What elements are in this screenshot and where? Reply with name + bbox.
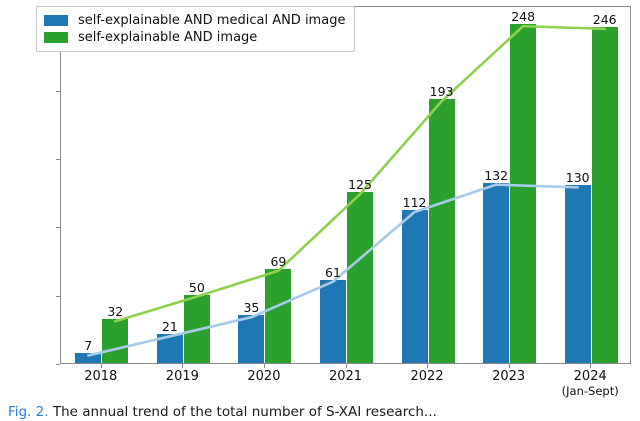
bar-value-label-2022-series-1: 112: [403, 195, 427, 210]
bar-value-label-2021-series-1: 61: [325, 265, 341, 280]
figure: 7322150356961125112193132248130246 05010…: [0, 0, 640, 419]
x-tick-mark-2020: [264, 364, 265, 368]
x-tick-label-2021: 2021: [329, 370, 362, 384]
x-tick-label-2023: 2023: [492, 370, 525, 384]
y-tick-mark-150: [56, 159, 60, 160]
figure-reference: Fig. 2.: [8, 404, 49, 420]
y-tick-mark-50: [56, 296, 60, 297]
x-tick-mark-2019: [182, 364, 183, 368]
legend-item-series-1: self-explainable AND medical AND image: [44, 12, 345, 29]
bar-value-label-2023-series-2: 248: [511, 9, 535, 24]
bar-value-label-2019-series-1: 21: [162, 319, 178, 334]
legend-swatch-blue: [44, 15, 68, 26]
x-tick-label-2018: 2018: [84, 370, 117, 384]
bar-value-label-2019-series-2: 50: [189, 280, 205, 295]
bar-value-label-2020-series-2: 69: [270, 254, 286, 269]
x-tick-label-2020: 2020: [247, 370, 280, 384]
bar-value-label-2018-series-1: 7: [84, 338, 92, 353]
chart-plot-area: 7322150356961125112193132248130246: [60, 6, 631, 364]
legend-item-series-2: self-explainable AND image: [44, 29, 345, 46]
x-tick-mark-2022: [427, 364, 428, 368]
legend-label-series-1: self-explainable AND medical AND image: [78, 13, 345, 28]
legend-label-series-2: self-explainable AND image: [78, 30, 257, 45]
bar-value-label-2018-series-2: 32: [107, 304, 123, 319]
figure-caption-text: The annual trend of the total number of …: [53, 404, 437, 420]
bar-value-labels-layer: 7322150356961125112193132248130246: [61, 7, 630, 363]
bar-value-label-2024-series-2: 246: [593, 12, 617, 27]
x-tick-label-2024: 2024(Jan-Sept): [562, 370, 619, 398]
chart-legend: self-explainable AND medical AND image s…: [36, 6, 355, 52]
legend-swatch-green: [44, 32, 68, 43]
y-tick-mark-0: [56, 364, 60, 365]
x-tick-label-2019: 2019: [166, 370, 199, 384]
bar-value-label-2020-series-1: 35: [243, 300, 259, 315]
bar-value-label-2022-series-2: 193: [430, 84, 454, 99]
y-tick-mark-100: [56, 227, 60, 228]
bar-value-label-2023-series-1: 132: [484, 168, 508, 183]
figure-caption: Fig. 2. The annual trend of the total nu…: [8, 404, 636, 421]
bar-value-label-2021-series-2: 125: [348, 177, 372, 192]
y-tick-mark-200: [56, 91, 60, 92]
x-tick-label-2022: 2022: [411, 370, 444, 384]
x-tick-mark-2024: [590, 364, 591, 368]
bar-value-label-2024-series-1: 130: [566, 170, 590, 185]
x-tick-mark-2023: [509, 364, 510, 368]
x-tick-mark-2021: [346, 364, 347, 368]
x-tick-mark-2018: [101, 364, 102, 368]
